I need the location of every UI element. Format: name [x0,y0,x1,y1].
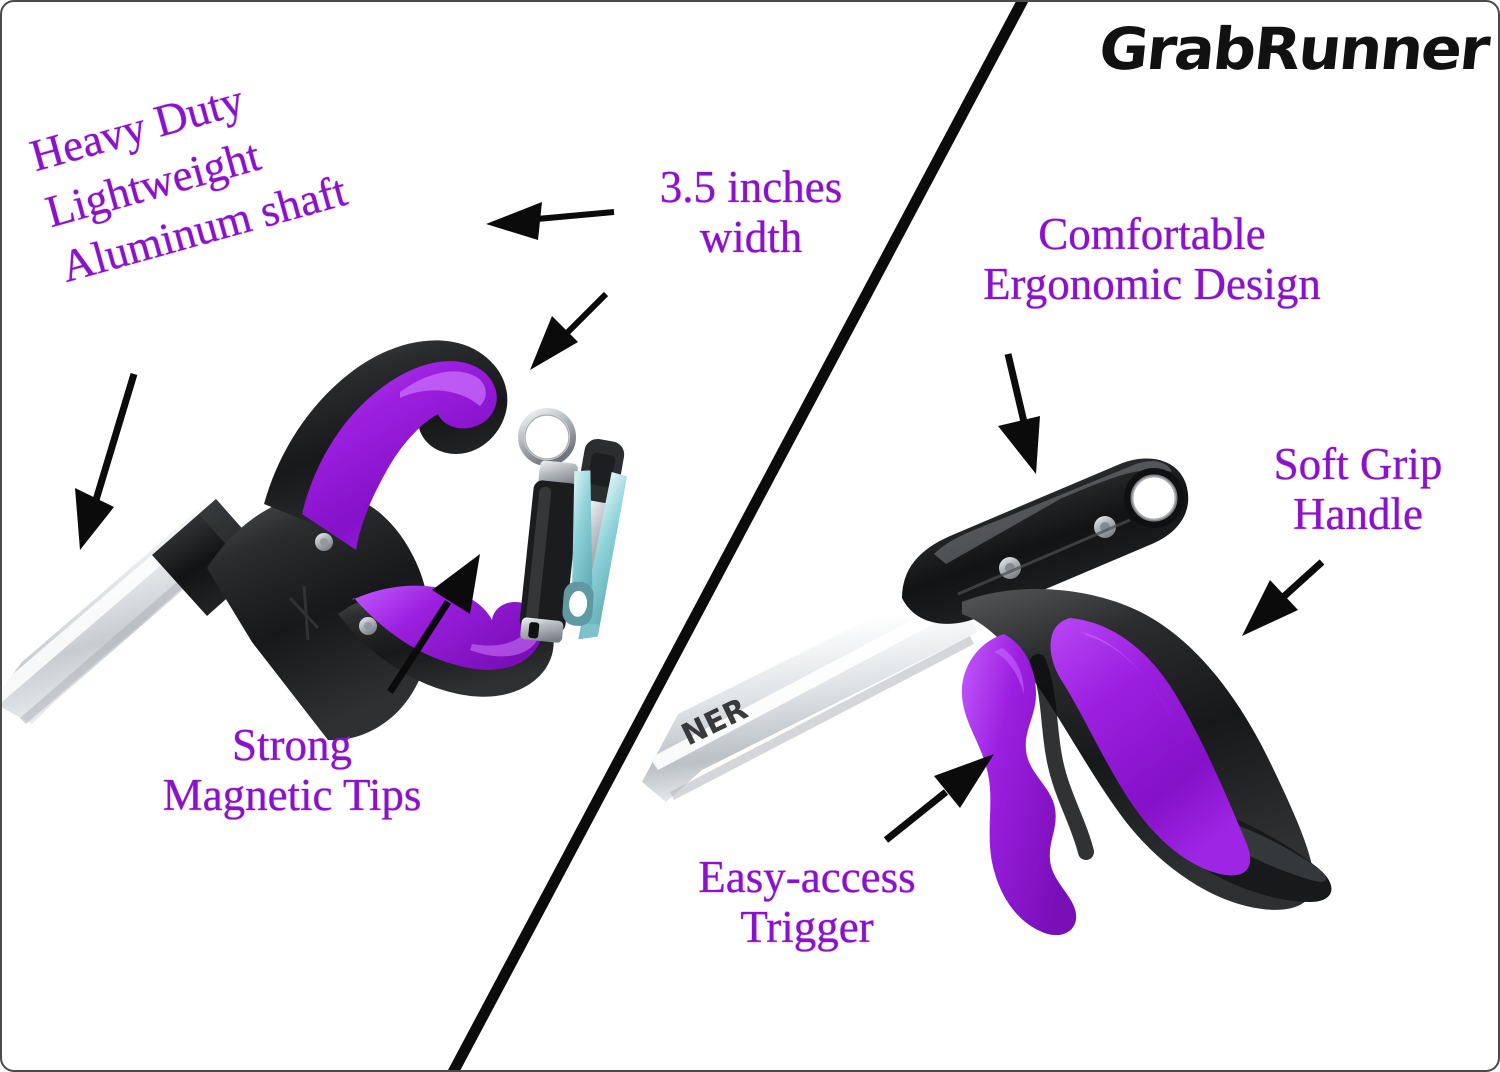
label-width: 3.5 inches width [616,162,886,263]
handle-barrel [902,458,1188,623]
keyring-with-keys [518,411,643,644]
label-easy-access-trigger: Easy-access Trigger [642,852,972,953]
key-teal-long [565,472,643,644]
shaft-ferrule [152,499,270,616]
key-split-ring [521,411,573,463]
label-ergonomic-design: Comfortable Ergonomic Design [932,209,1372,310]
label-soft-grip-handle: Soft Grip Handle [1220,439,1496,540]
brand-logo: GrabRunner [1096,20,1490,78]
label-aluminum-shaft: Heavy Duty Lightweight Aluminum shaft [24,52,353,297]
product-infographic: GrabRunner [0,0,1500,1072]
hang-hole [1124,468,1184,528]
arrow-ergonomic-icon [998,354,1040,474]
key-black [556,437,626,617]
trigger-grip [962,634,1076,935]
shaft-branding-text: NER [676,692,753,754]
arrow-grip-icon [1242,562,1322,636]
aluminum-shaft-right: NER [642,578,978,802]
claw-rivet-lower [359,617,377,635]
butt-cap [1170,802,1331,902]
claw-rivet-upper [315,533,333,551]
handle-housing [962,589,1314,910]
arrow-width-icon [486,202,614,240]
arrow-magnetic-icon [390,554,480,692]
arrow-shaft-icon [75,374,134,550]
claw-head [207,340,554,740]
aluminum-shaft-left [2,502,240,724]
key-fob [518,460,583,644]
handle-rivet-rear [999,557,1021,579]
soft-grip-back [1051,618,1251,875]
key-teal-short [562,469,603,627]
arrow-jaw-icon [530,294,606,370]
brand-logo-text: GrabRunner [1096,15,1491,83]
handle-rivet-front [1094,516,1116,538]
arrow-trigger-icon [886,754,994,840]
label-magnetic-tips: Strong Magnetic Tips [102,720,482,821]
